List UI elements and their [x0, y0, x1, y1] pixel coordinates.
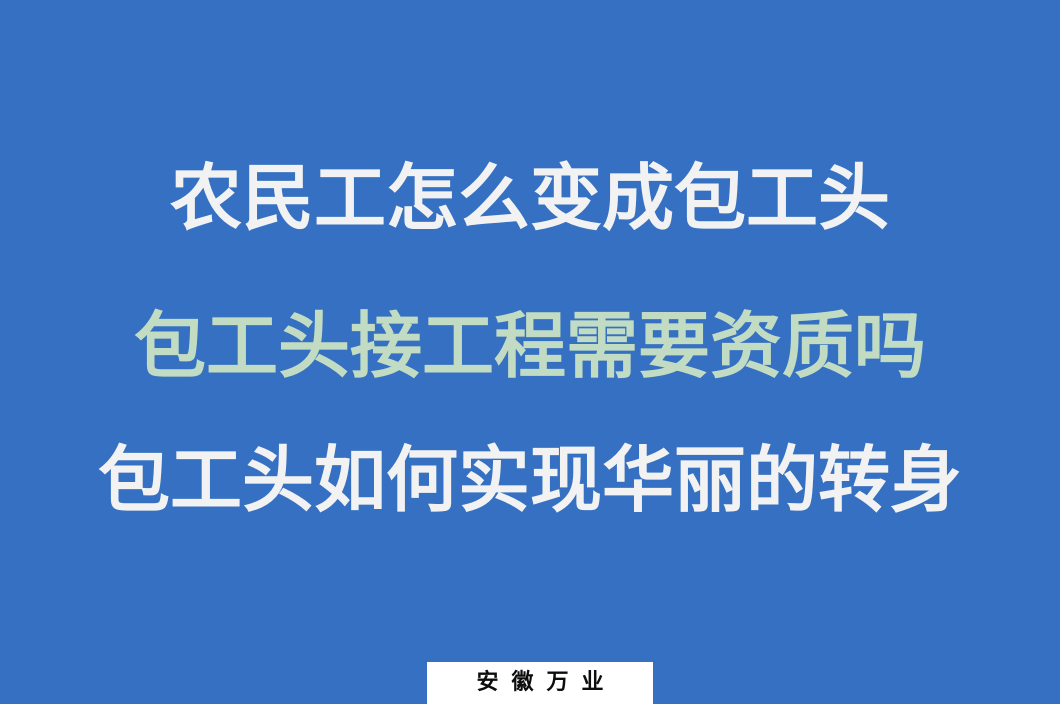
poster-canvas: 农民工怎么变成包工头 包工头接工程需要资质吗 包工头如何实现华丽的转身 安徽万业 [0, 0, 1060, 704]
brand-name: 安徽万业 [463, 672, 616, 694]
headline-line-3: 包工头如何实现华丽的转身 [0, 444, 1060, 516]
headline-line-1: 农民工怎么变成包工头 [0, 162, 1060, 234]
brand-plate: 安徽万业 [427, 662, 653, 704]
headline-line-2: 包工头接工程需要资质吗 [0, 310, 1060, 382]
headline-block: 农民工怎么变成包工头 包工头接工程需要资质吗 包工头如何实现华丽的转身 [0, 0, 1060, 704]
